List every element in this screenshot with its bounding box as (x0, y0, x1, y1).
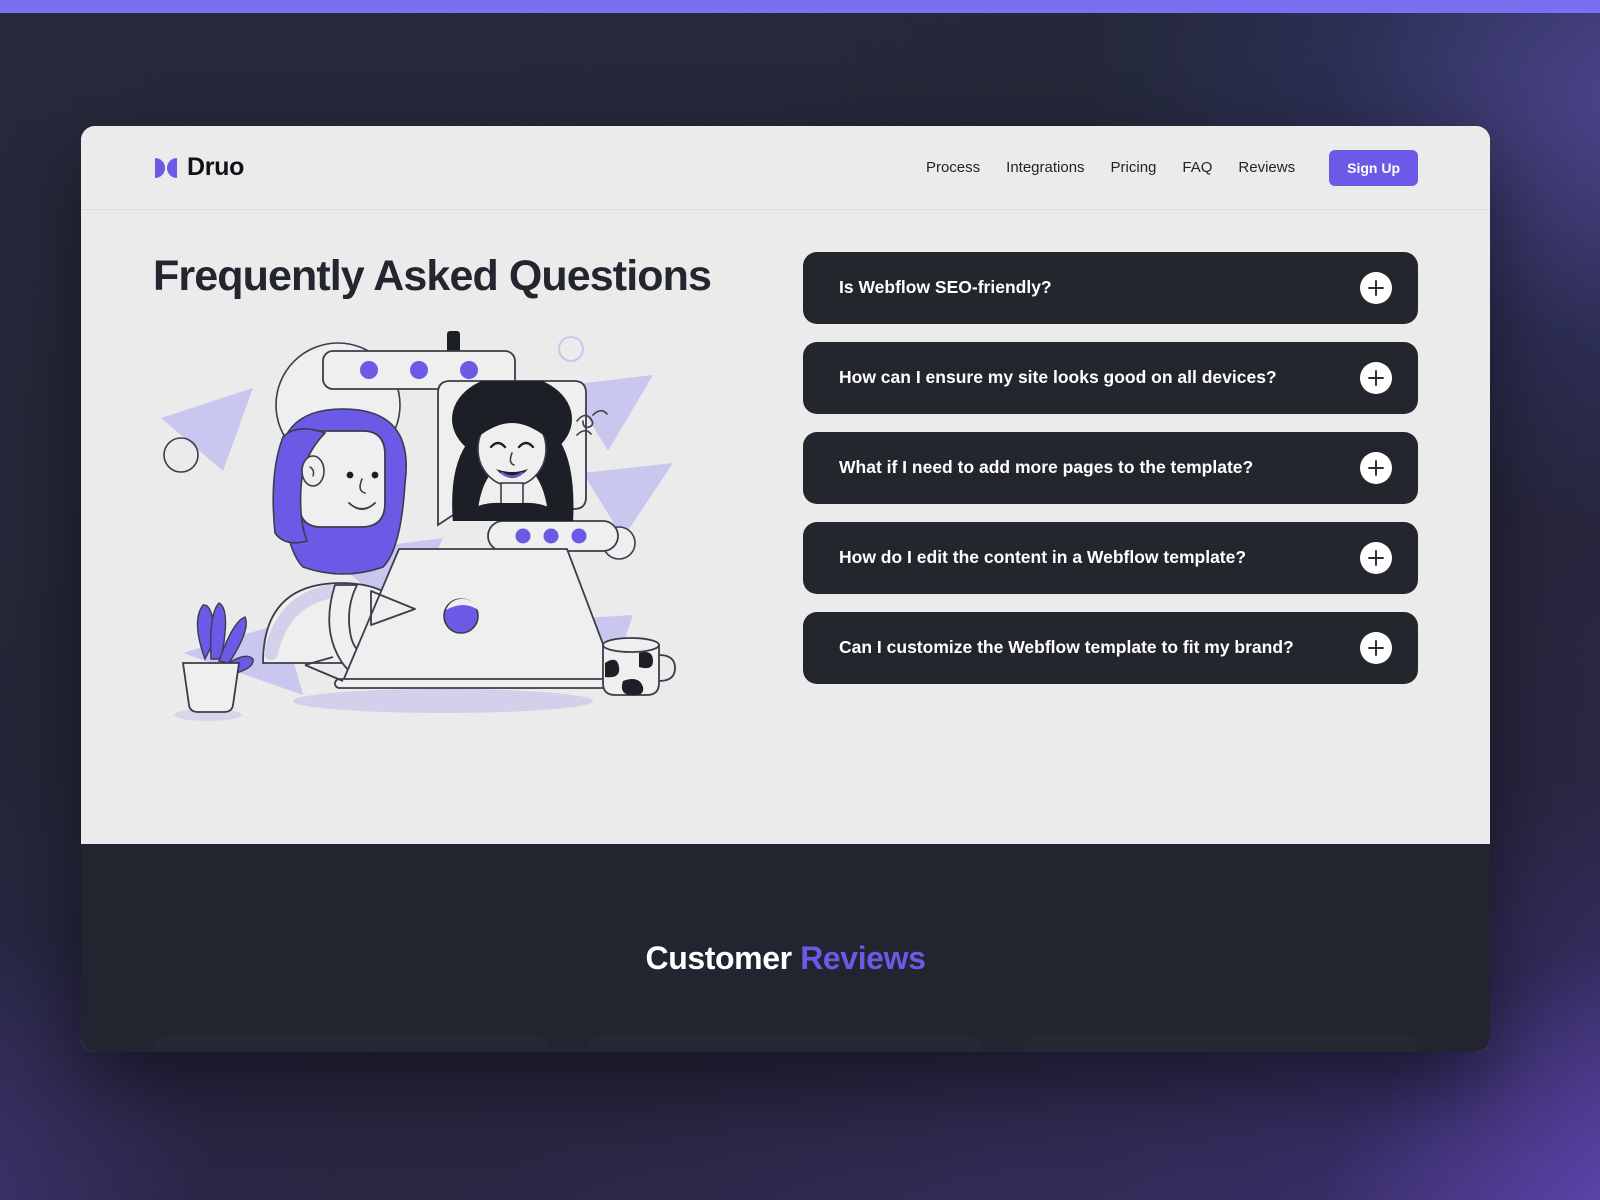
faq-item[interactable]: How can I ensure my site looks good on a… (803, 342, 1418, 414)
faq-left-column: Frequently Asked Questions (153, 240, 803, 844)
faq-item[interactable]: Can I customize the Webflow template to … (803, 612, 1418, 684)
faq-item[interactable]: How do I edit the content in a Webflow t… (803, 522, 1418, 594)
review-card[interactable] (1023, 1034, 1418, 1052)
nav-link-pricing[interactable]: Pricing (1111, 159, 1157, 176)
faq-question: What if I need to add more pages to the … (839, 454, 1253, 481)
faq-question: Can I customize the Webflow template to … (839, 634, 1294, 661)
faq-question: How do I edit the content in a Webflow t… (839, 544, 1246, 571)
review-card[interactable] (588, 1034, 983, 1052)
plus-icon[interactable] (1360, 632, 1392, 664)
reviews-title-plain: Customer (646, 940, 792, 976)
page-title: Frequently Asked Questions (153, 252, 803, 301)
review-cards-row (153, 1034, 1418, 1052)
reviews-title: Customer Reviews (81, 940, 1490, 977)
nav-link-integrations[interactable]: Integrations (1006, 159, 1084, 176)
faq-section: Frequently Asked Questions (81, 210, 1490, 844)
nav-link-faq[interactable]: FAQ (1182, 159, 1212, 176)
plus-icon[interactable] (1360, 362, 1392, 394)
faq-item[interactable]: Is Webflow SEO-friendly? (803, 252, 1418, 324)
brand-logo[interactable]: Druo (153, 153, 244, 182)
review-card[interactable] (153, 1034, 548, 1052)
woman-at-laptop-with-chat-bubbles-illustration (153, 323, 713, 743)
faq-question: How can I ensure my site looks good on a… (839, 364, 1277, 391)
faq-question: Is Webflow SEO-friendly? (839, 274, 1052, 301)
faq-item[interactable]: What if I need to add more pages to the … (803, 432, 1418, 504)
plus-icon[interactable] (1360, 542, 1392, 574)
website-preview-card: Druo Process Integrations Pricing FAQ Re… (81, 126, 1490, 1052)
site-header: Druo Process Integrations Pricing FAQ Re… (81, 126, 1490, 210)
druo-halfmoon-logo-icon (153, 156, 179, 180)
sign-up-button[interactable]: Sign Up (1329, 150, 1418, 186)
reviews-title-accent: Reviews (800, 940, 925, 976)
brand-name: Druo (187, 153, 244, 182)
faq-accordion-list: Is Webflow SEO-friendly? How can I ensur… (803, 240, 1418, 844)
nav-link-process[interactable]: Process (926, 159, 980, 176)
plus-icon[interactable] (1360, 272, 1392, 304)
customer-reviews-section: Customer Reviews (81, 844, 1490, 1052)
nav-link-reviews[interactable]: Reviews (1238, 159, 1295, 176)
plus-icon[interactable] (1360, 452, 1392, 484)
main-navigation: Process Integrations Pricing FAQ Reviews… (926, 150, 1418, 186)
browser-top-band (0, 0, 1600, 13)
